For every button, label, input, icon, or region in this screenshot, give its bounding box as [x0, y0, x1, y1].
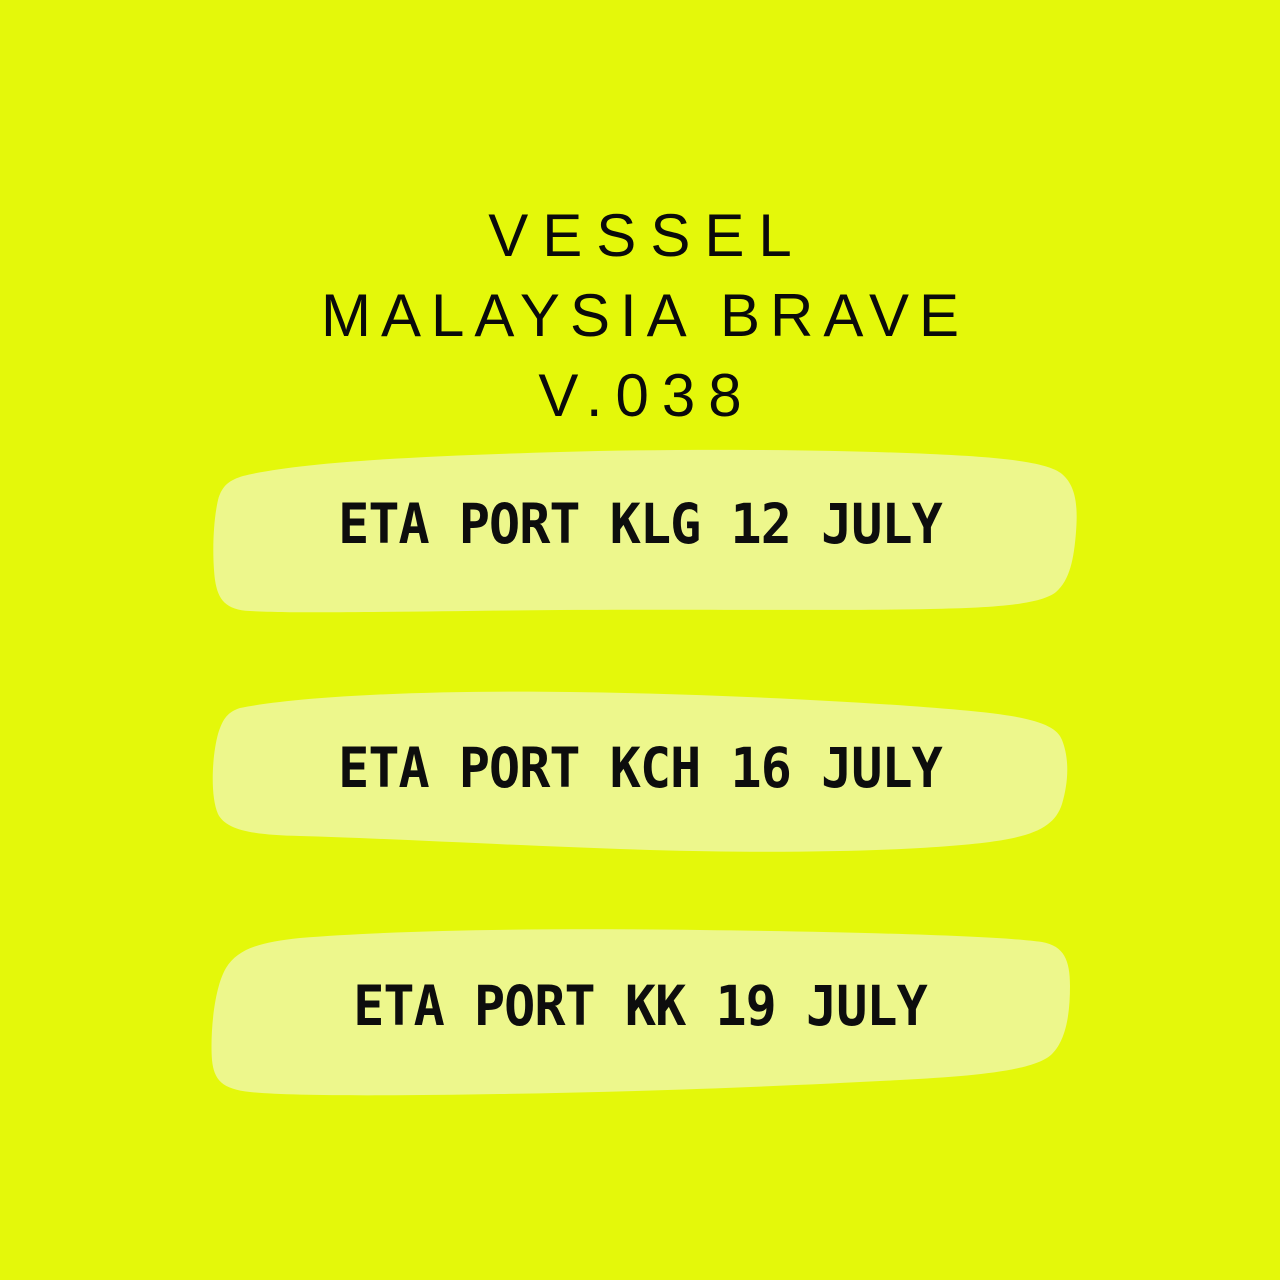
eta-band-1: ETA PORT KLG 12 JULY — [0, 440, 1280, 630]
poster-canvas: VESSEL MALAYSIA BRAVE V.038 ETA PORT KLG… — [0, 0, 1280, 1280]
vessel-heading-line-2: MALAYSIA BRAVE — [0, 276, 1280, 356]
eta-band-3-label: ETA PORT KK 19 JULY — [38, 974, 1241, 1038]
vessel-heading-line-3: V.038 — [0, 356, 1280, 436]
eta-band-2-label: ETA PORT KCH 16 JULY — [38, 736, 1241, 800]
page-title: VESSEL MALAYSIA BRAVE V.038 — [0, 196, 1280, 436]
eta-band-2: ETA PORT KCH 16 JULY — [0, 678, 1280, 868]
eta-band-1-label: ETA PORT KLG 12 JULY — [38, 492, 1241, 556]
vessel-heading-line-1: VESSEL — [0, 196, 1280, 276]
eta-band-3: ETA PORT KK 19 JULY — [0, 916, 1280, 1106]
